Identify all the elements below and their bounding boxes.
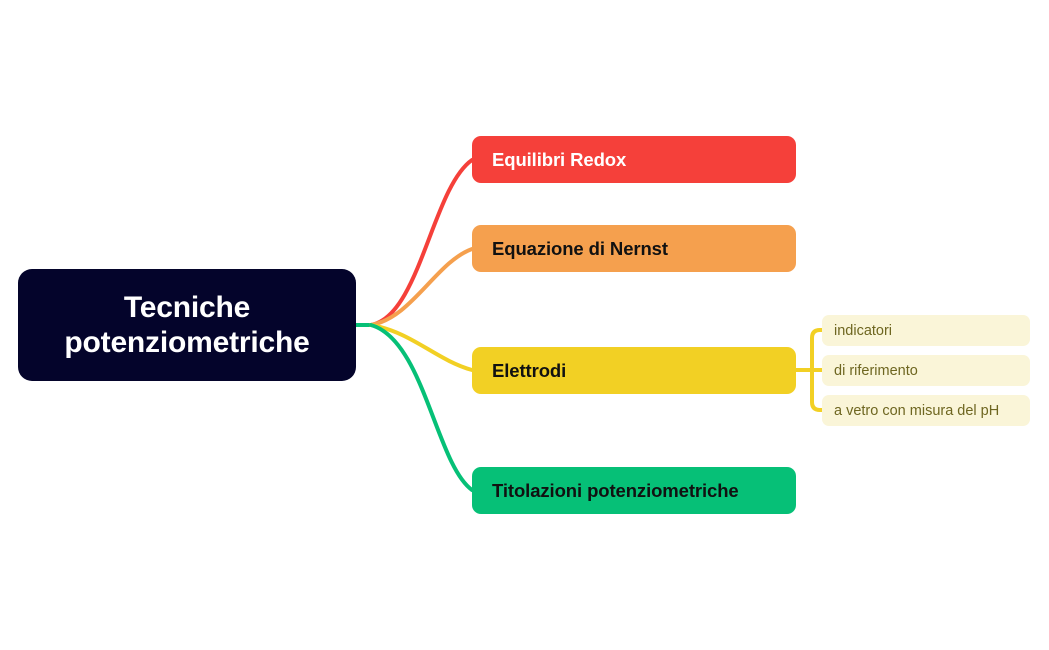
leaf-node-label: di riferimento (834, 363, 918, 379)
branch-node-equazione-di-nernst[interactable]: Equazione di Nernst (472, 225, 796, 272)
leaf-node-label: indicatori (834, 323, 892, 339)
branch-node-equilibri-redox[interactable]: Equilibri Redox (472, 136, 796, 183)
edge-root-to-elettrodi (371, 325, 472, 370)
leaf-node-indicatori[interactable]: indicatori (822, 315, 1030, 346)
leaf-node-a-vetro-con-misura-del-ph[interactable]: a vetro con misura del pH (822, 395, 1030, 426)
edge-root-to-nernst (371, 249, 472, 325)
root-node-label: Tecniche potenziometriche (64, 290, 309, 361)
branch-node-label: Elettrodi (492, 360, 566, 382)
edge-root-to-titolazioni (371, 325, 472, 490)
branch-node-elettrodi[interactable]: Elettrodi (472, 347, 796, 394)
mindmap-canvas: Tecniche potenziometriche Equilibri Redo… (0, 0, 1049, 650)
branch-node-label: Titolazioni potenziometriche (492, 480, 739, 502)
root-node-tecniche-potenziometriche[interactable]: Tecniche potenziometriche (18, 269, 356, 381)
edge-root-to-redox (371, 160, 472, 325)
leaf-node-label: a vetro con misura del pH (834, 403, 999, 419)
branch-node-titolazioni-potenziometriche[interactable]: Titolazioni potenziometriche (472, 467, 796, 514)
leaf-node-di-riferimento[interactable]: di riferimento (822, 355, 1030, 386)
root-node-label-line1: Tecniche (124, 291, 250, 324)
branch-node-label: Equazione di Nernst (492, 238, 668, 260)
root-node-label-line2: potenziometriche (64, 326, 309, 359)
branch-node-label: Equilibri Redox (492, 149, 626, 171)
